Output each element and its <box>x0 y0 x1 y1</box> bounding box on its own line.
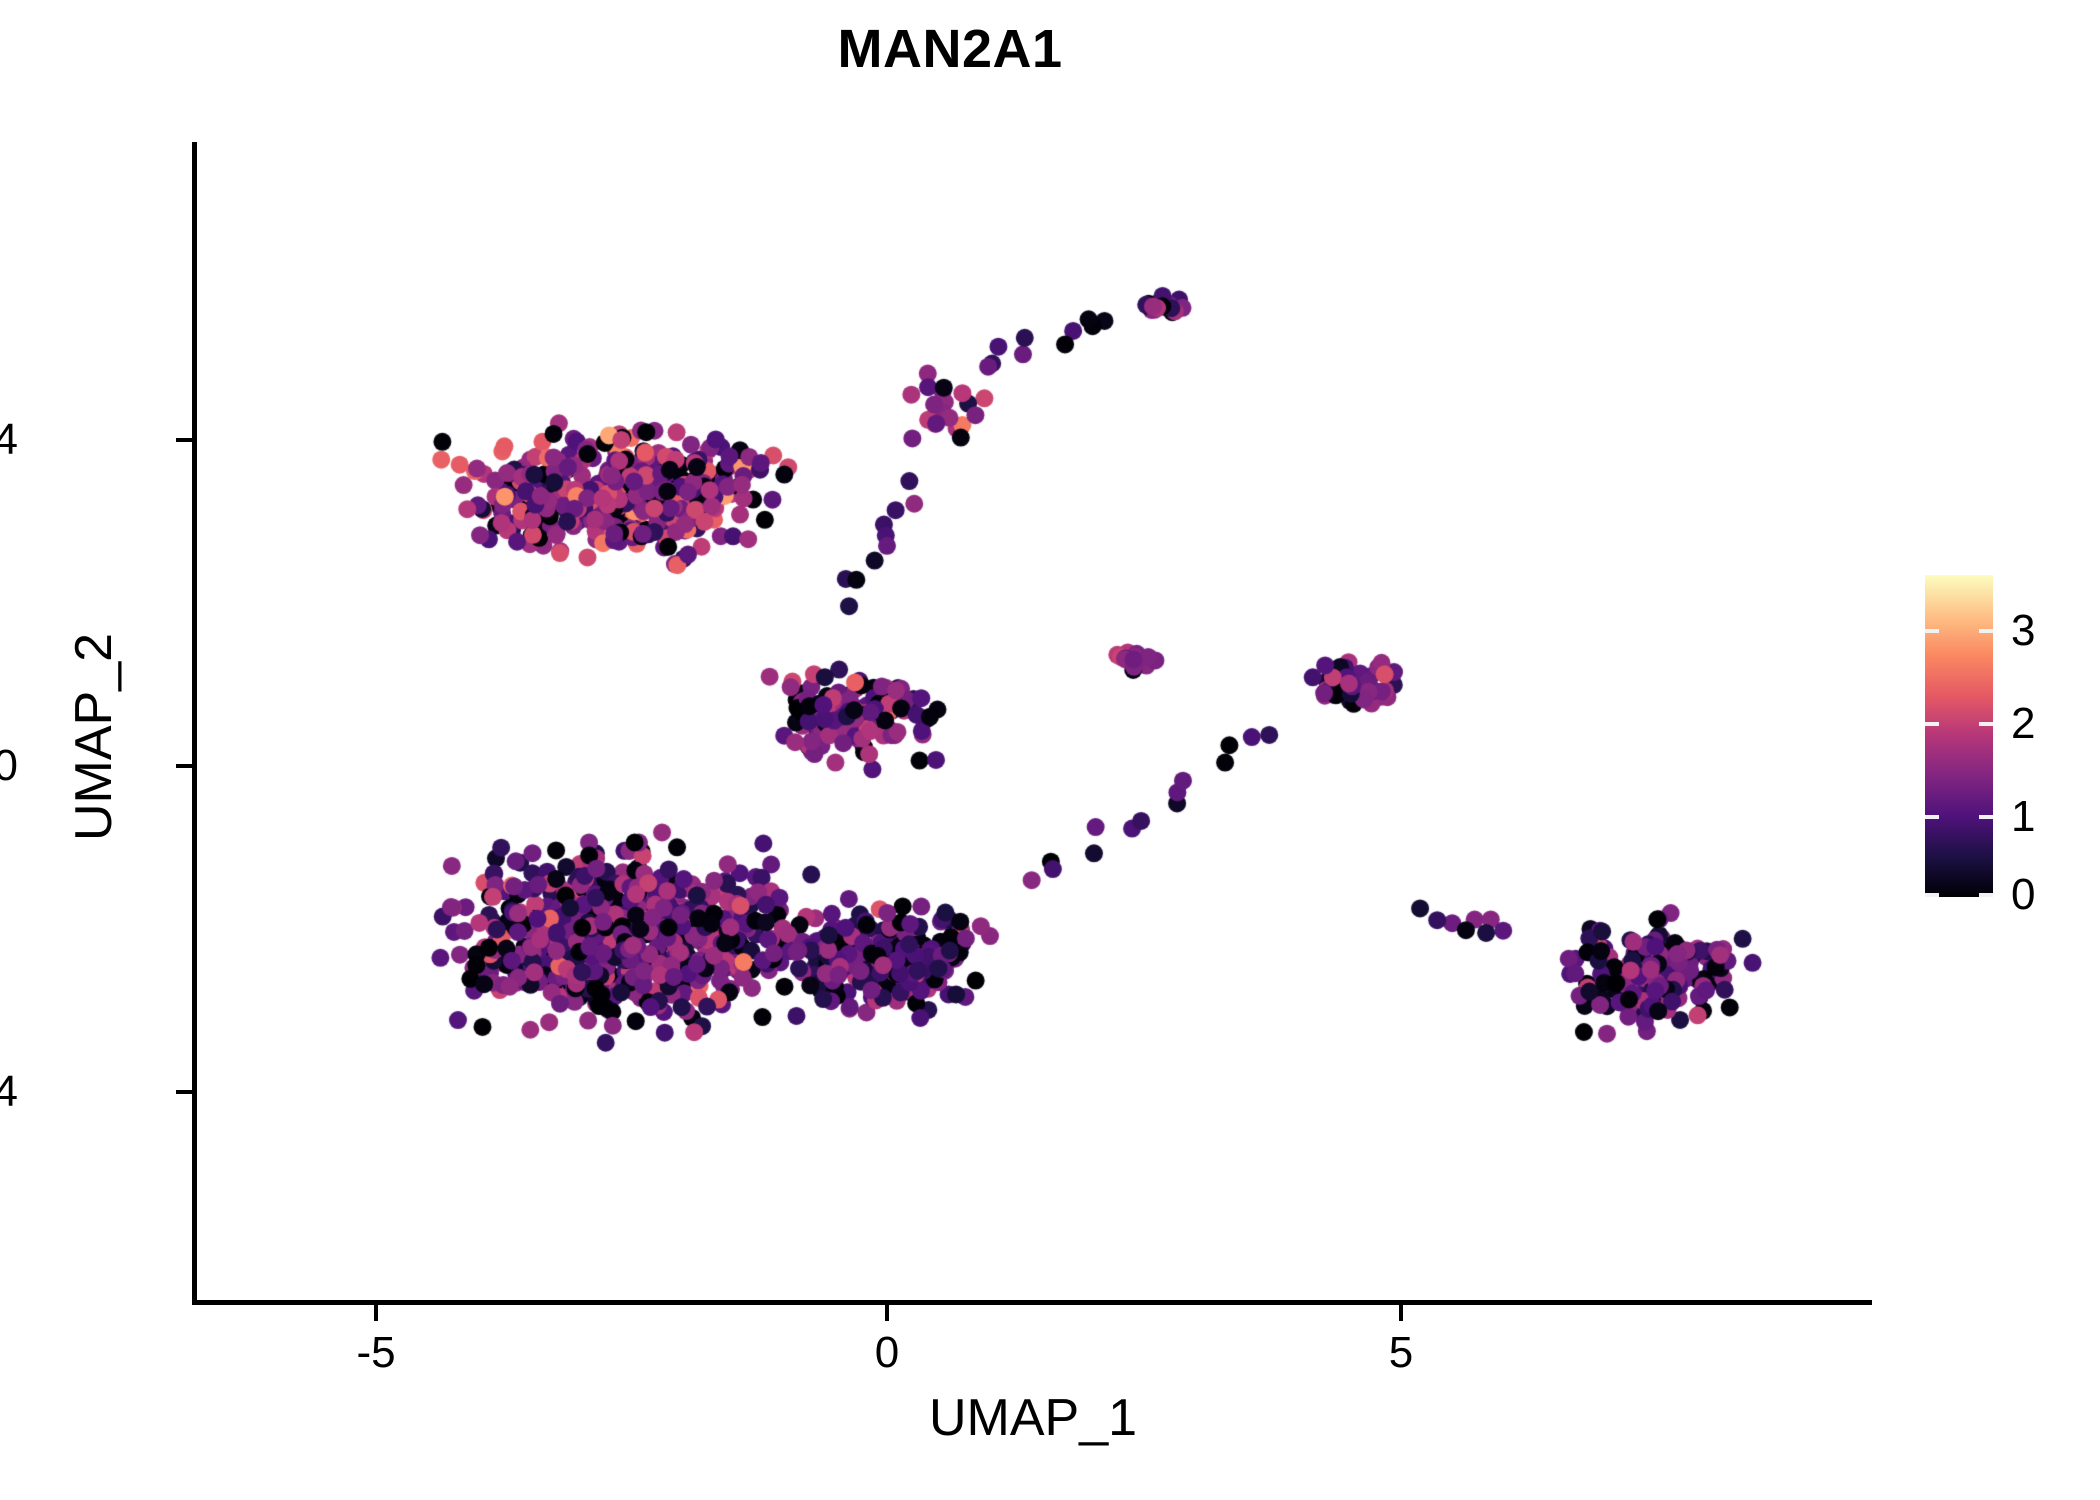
umap-feature-plot: MAN2A1 4 0 -4 -5 0 5 UMAP_1 UMAP_2 3 2 1… <box>0 0 2100 1500</box>
colorbar-label-0: 0 <box>2011 870 2035 920</box>
y-tick-label-0: 0 <box>0 741 18 791</box>
y-tick-label-4: 4 <box>0 415 18 465</box>
y-tick-mark-neg4 <box>176 1090 192 1094</box>
colorbar-tick-0-left <box>1925 893 1939 897</box>
x-axis-line <box>192 1300 1872 1305</box>
x-tick-mark-0 <box>885 1305 889 1321</box>
colorbar-tick-2-right <box>1979 722 1993 726</box>
colorbar-tick-1-right <box>1979 815 1993 819</box>
page-title: MAN2A1 <box>0 18 1900 80</box>
color-legend: 3 2 1 0 <box>1925 575 2085 905</box>
scatter-plot-canvas <box>195 142 1871 1302</box>
y-axis-label: UMAP_2 <box>64 337 124 1137</box>
colorbar-label-3: 3 <box>2011 606 2035 656</box>
colorbar-label-2: 2 <box>2011 699 2035 749</box>
colorbar-gradient <box>1925 575 1993 897</box>
y-tick-mark-4 <box>176 438 192 442</box>
y-tick-label-neg4: -4 <box>0 1067 18 1117</box>
plot-panel <box>195 142 1871 1302</box>
y-axis-line <box>192 142 197 1305</box>
colorbar-label-1: 1 <box>2011 792 2035 842</box>
colorbar-tick-3-left <box>1925 629 1939 633</box>
y-tick-mark-0 <box>176 764 192 768</box>
colorbar-tick-0-right <box>1979 893 1993 897</box>
x-axis-label: UMAP_1 <box>195 1388 1871 1448</box>
x-tick-label-neg5: -5 <box>356 1328 395 1378</box>
colorbar-tick-1-left <box>1925 815 1939 819</box>
x-tick-mark-neg5 <box>374 1305 378 1321</box>
colorbar-tick-3-right <box>1979 629 1993 633</box>
x-tick-label-5: 5 <box>1389 1328 1413 1378</box>
x-tick-label-0: 0 <box>875 1328 899 1378</box>
colorbar-tick-2-left <box>1925 722 1939 726</box>
x-tick-mark-5 <box>1399 1305 1403 1321</box>
